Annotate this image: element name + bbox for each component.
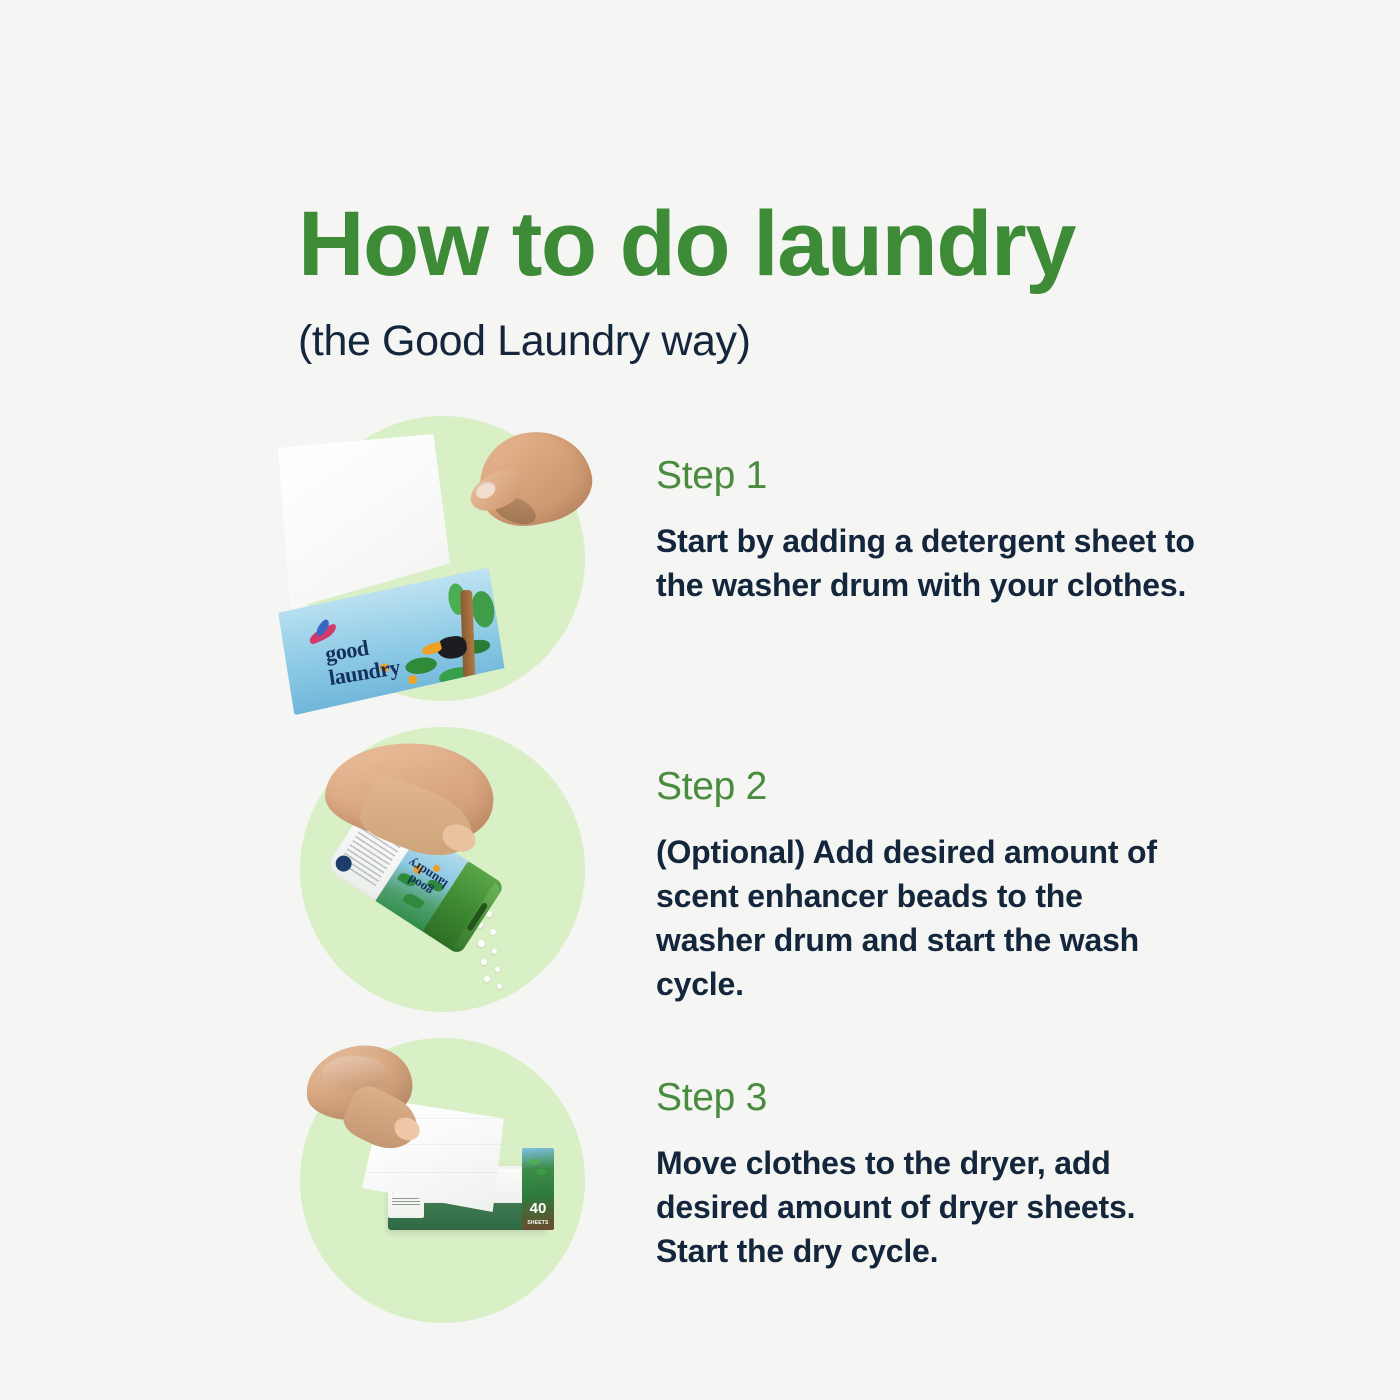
hand [463,422,591,552]
hand [306,1046,426,1154]
scent-beads-scene: good laundry [300,727,585,1012]
box-fine-print [392,1198,420,1206]
step-1-media: good laundry [300,416,600,701]
leaf-art [526,1154,548,1188]
scent-bead [492,949,497,954]
step-2-title: Step 2 [656,767,1200,808]
step-1-title: Step 1 [656,456,1200,497]
step-row: Rain PLANT 40 SHEETS [0,1038,1400,1323]
detergent-sheet-scene: good laundry [300,416,585,701]
scent-bead [490,929,496,935]
infographic-page: How to do laundry (the Good Laundry way) [0,0,1400,1400]
step-3-body: Move clothes to the dryer, add desired a… [656,1141,1200,1273]
step-2-media: good laundry [300,727,600,1012]
step-3-text: Step 3 Move clothes to the dryer, add de… [600,1038,1200,1273]
step-1-body: Start by adding a detergent sheet to the… [656,519,1200,607]
scent-bead [481,959,487,965]
step-2-body: (Optional) Add desired amount of scent e… [656,830,1200,1007]
steps-list: good laundry [0,416,1400,1323]
step-row: good laundry [0,416,1400,701]
page-title: How to do laundry [298,198,1298,290]
step-3-image-circle: Rain PLANT 40 SHEETS [300,1038,585,1323]
box-count: 40 [522,1201,554,1216]
step-row: good laundry [0,727,1400,1012]
step-3-title: Step 3 [656,1078,1200,1119]
step-2-text: Step 2 (Optional) Add desired amount of … [600,727,1200,1007]
scent-bead [478,940,485,947]
header: How to do laundry (the Good Laundry way) [298,198,1298,365]
step-2-image-circle: good laundry [300,727,585,1012]
box-count-label: SHEETS [522,1220,554,1226]
scent-bead [484,976,490,982]
dryer-sheet-scene: Rain PLANT 40 SHEETS [300,1038,585,1323]
box-right-panel: 40 SHEETS [522,1148,554,1230]
step-1-image-circle: good laundry [300,416,585,701]
hand-knuckles [322,1056,388,1090]
step-3-media: Rain PLANT 40 SHEETS [300,1038,600,1323]
page-subtitle: (the Good Laundry way) [298,318,1298,365]
scent-bead [495,967,500,972]
step-1-text: Step 1 Start by adding a detergent sheet… [600,416,1200,607]
sheet-crease [362,1172,504,1173]
scent-bead [497,984,502,989]
